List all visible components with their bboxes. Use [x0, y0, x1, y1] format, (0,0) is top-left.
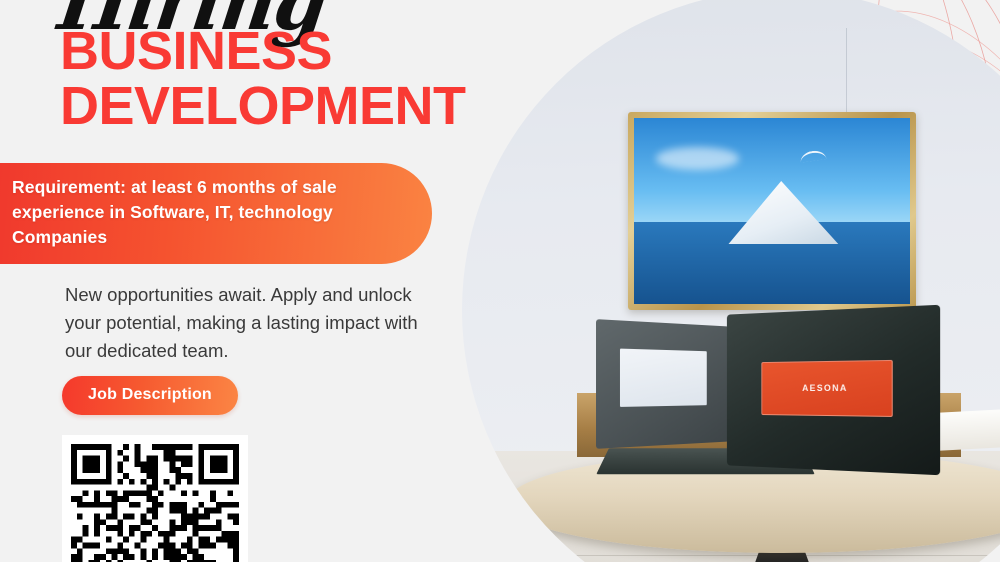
- body-copy: New opportunities await. Apply and unloc…: [65, 281, 445, 365]
- laptop-lid: AESONA: [727, 305, 940, 475]
- qr-code-canvas: [71, 444, 239, 562]
- job-description-button[interactable]: Job Description: [62, 376, 238, 415]
- recruitment-banner: AESONA Hiring BUSINESS DEVELOPMENT Requi…: [0, 0, 1000, 562]
- headline-line-2: DEVELOPMENT: [60, 81, 466, 132]
- wall-picture-frame: [628, 112, 916, 310]
- second-laptop: [596, 319, 729, 448]
- photo-scene: AESONA: [462, 0, 1000, 562]
- laptop-sticker-text: AESONA: [802, 383, 848, 393]
- qr-code[interactable]: [62, 435, 248, 562]
- headline-line-1: BUSINESS: [60, 26, 332, 77]
- aesona-laptop-sticker: AESONA: [761, 360, 892, 416]
- requirement-badge: Requirement: at least 6 months of sale e…: [0, 163, 432, 264]
- text-column: Hiring BUSINESS DEVELOPMENT Requirement:…: [0, 0, 520, 562]
- team-photo: AESONA: [462, 0, 1000, 562]
